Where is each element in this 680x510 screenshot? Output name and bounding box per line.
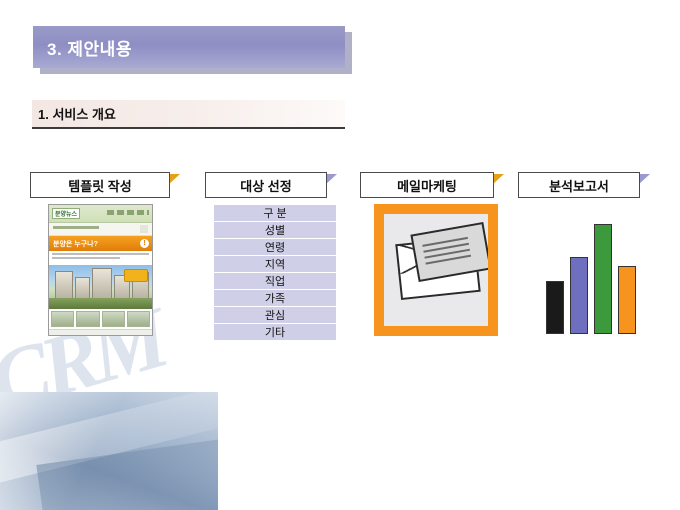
slide-title-bar: 3. 제안내용 bbox=[33, 26, 345, 68]
flyer-gallery bbox=[49, 309, 152, 329]
column-header-box: 대상 선정 bbox=[205, 172, 327, 198]
table-row: 지역 bbox=[214, 256, 337, 273]
table-row: 관심 bbox=[214, 307, 337, 324]
target-criteria-table: 구 분 성별 연령 지역 직업 가족 관심 기타 bbox=[213, 204, 337, 341]
column-header-box: 메일마케팅 bbox=[360, 172, 494, 198]
analysis-bar-chart bbox=[540, 210, 652, 334]
chart-bar bbox=[594, 224, 612, 334]
chart-bar bbox=[570, 257, 588, 334]
flyer-topbar: 분양뉴스 bbox=[49, 205, 152, 223]
column-header-label: 템플릿 작성 bbox=[68, 176, 131, 195]
table-row: 성별 bbox=[214, 222, 337, 239]
column-header-wrap: 분석보고서 bbox=[518, 172, 658, 198]
table-cell: 지역 bbox=[214, 256, 337, 273]
flyer-nav-strip bbox=[107, 210, 149, 215]
chart-bars bbox=[546, 224, 646, 334]
flow-column-template: 템플릿 작성 분양뉴스 분양은 누구나? ! bbox=[30, 172, 190, 198]
table-row: 가족 bbox=[214, 290, 337, 307]
table-cell: 연령 bbox=[214, 239, 337, 256]
mail-marketing-image bbox=[374, 204, 498, 336]
page-title: 3. 제안내용 bbox=[33, 35, 132, 60]
table-cell: 관심 bbox=[214, 307, 337, 324]
section-heading: 1. 서비스 개요 bbox=[32, 100, 345, 129]
table-cell: 성별 bbox=[214, 222, 337, 239]
table-row: 기타 bbox=[214, 324, 337, 341]
flyer-banner-text: 분양은 누구나? bbox=[53, 239, 98, 249]
background-photo bbox=[0, 392, 218, 510]
slide-canvas: CRM 3. 제안내용 1. 서비스 개요 템플릿 작성 분양뉴스 분양은 누구… bbox=[0, 0, 680, 510]
flow-column-mail: 메일마케팅 날짜별 마케팅 시간별 마케팅 횟수별 마케팅 bbox=[360, 172, 512, 198]
column-header-wrap: 대상 선정 bbox=[205, 172, 345, 198]
table-row: 연령 bbox=[214, 239, 337, 256]
flyer-preview-image: 분양뉴스 분양은 누구나? ! bbox=[48, 204, 153, 336]
flyer-logo: 분양뉴스 bbox=[52, 208, 80, 219]
column-header-box: 템플릿 작성 bbox=[30, 172, 170, 198]
flyer-photo bbox=[49, 265, 152, 309]
table-cell: 구 분 bbox=[214, 205, 337, 222]
flyer-subtitle-bar bbox=[49, 223, 152, 236]
mail-image-inner bbox=[384, 214, 488, 326]
section-heading-label: 1. 서비스 개요 bbox=[32, 104, 116, 123]
table-cell: 기타 bbox=[214, 324, 337, 341]
flyer-text-lines bbox=[49, 251, 152, 265]
flow-column-target: 대상 선정 구 분 성별 연령 지역 직업 가족 관심 기타 판매제품별 구분 … bbox=[205, 172, 345, 198]
column-header-label: 메일마케팅 bbox=[397, 176, 457, 195]
flyer-banner: 분양은 누구나? ! bbox=[49, 236, 152, 251]
column-header-label: 분석보고서 bbox=[549, 176, 609, 195]
table-row: 구 분 bbox=[214, 205, 337, 222]
flyer-footer bbox=[49, 329, 152, 336]
column-header-wrap: 메일마케팅 bbox=[360, 172, 512, 198]
table-cell: 직업 bbox=[214, 273, 337, 290]
column-header-label: 대상 선정 bbox=[240, 176, 291, 195]
flow-column-report: 분석보고서 마케팅분석 보고서 작성 CRM구축 bbox=[518, 172, 658, 198]
flyer-badge-icon: ! bbox=[140, 239, 149, 248]
table-row: 직업 bbox=[214, 273, 337, 290]
table-cell: 가족 bbox=[214, 290, 337, 307]
chart-bar bbox=[618, 266, 636, 334]
column-header-wrap: 템플릿 작성 bbox=[30, 172, 190, 198]
chart-bar bbox=[546, 281, 564, 334]
column-header-box: 분석보고서 bbox=[518, 172, 640, 198]
